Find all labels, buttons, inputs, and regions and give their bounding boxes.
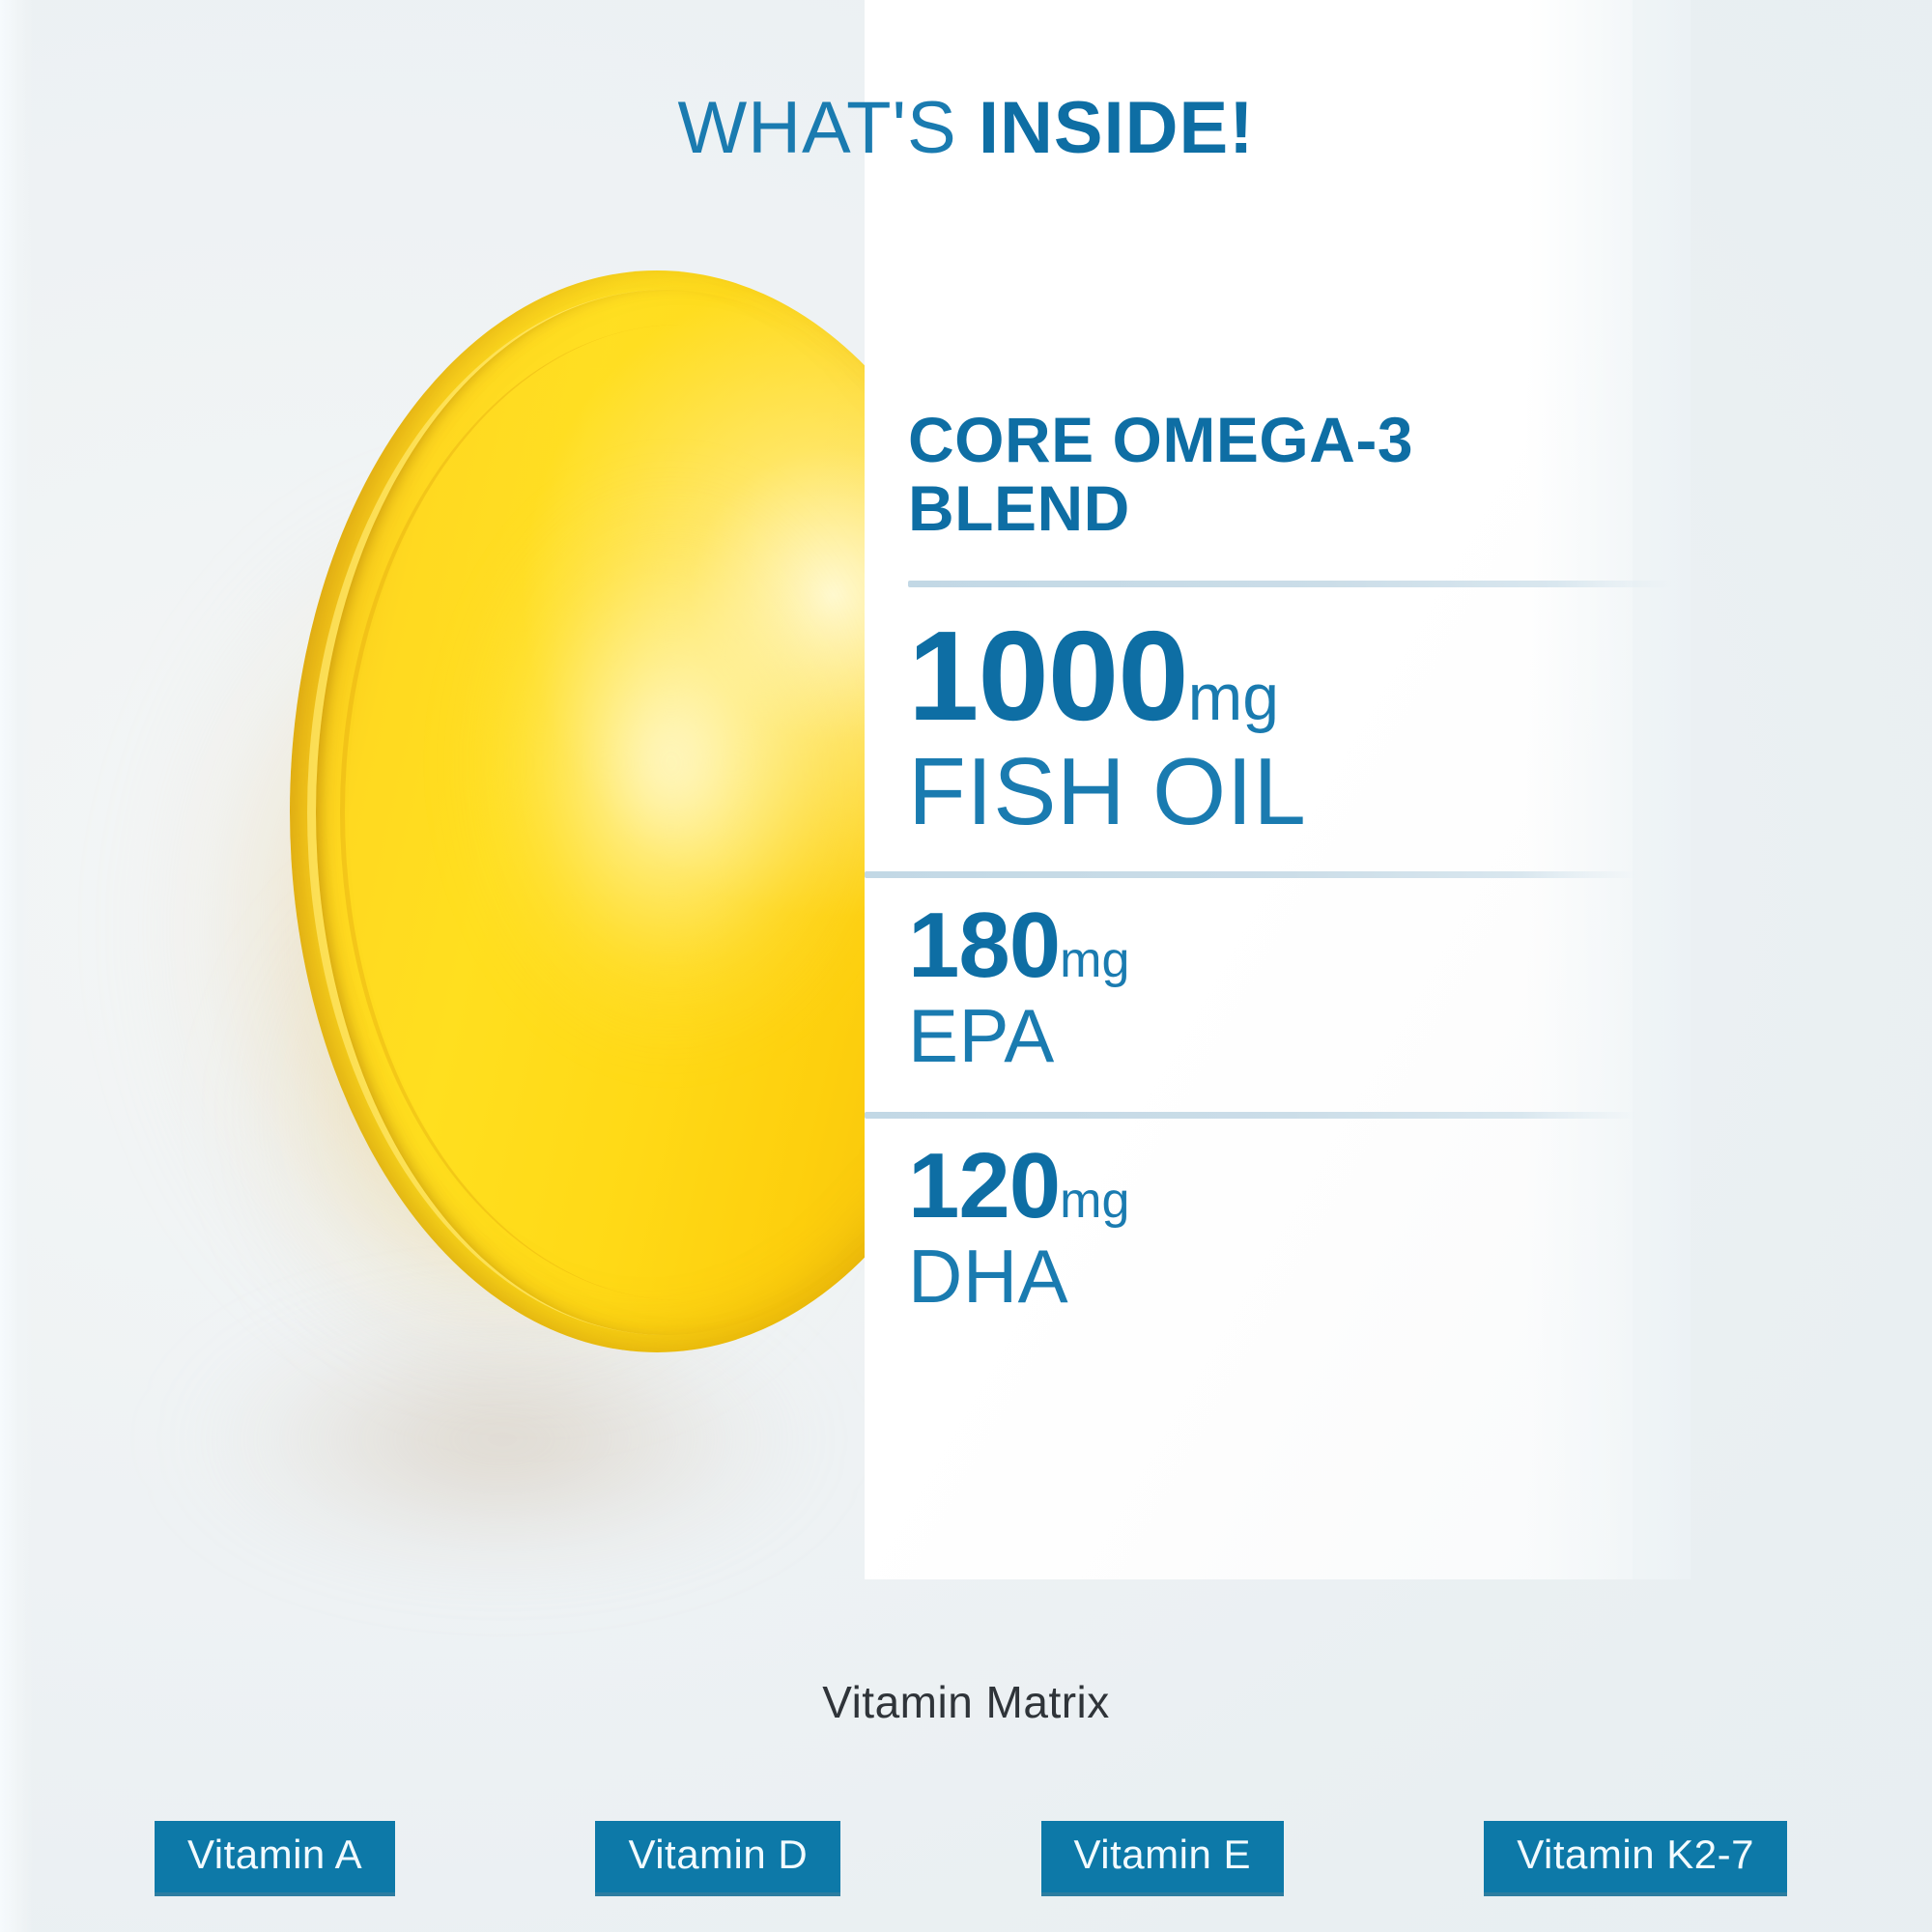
stat-epa: 180mg EPA	[908, 899, 1681, 1073]
infographic-canvas: WHAT'S INSIDE! CORE OMEGA-3 BLEND 1000mg…	[0, 0, 1932, 1932]
stat-fish-oil-unit: mg	[1188, 661, 1279, 734]
section-heading: CORE OMEGA-3 BLEND	[908, 406, 1681, 542]
stat-dha-label: DHA	[908, 1238, 1681, 1314]
section-heading-line1: CORE OMEGA-3	[908, 404, 1413, 475]
badge-vitamin-e: Vitamin E	[1041, 1821, 1284, 1892]
stat-dha-amount: 120mg	[908, 1140, 1681, 1233]
page-title: WHAT'S INSIDE!	[0, 92, 1932, 165]
stat-epa-value: 180	[908, 894, 1060, 997]
vitamin-matrix-caption: Vitamin Matrix	[0, 1676, 1932, 1728]
stat-epa-amount: 180mg	[908, 899, 1681, 992]
stat-fish-oil-label: FISH OIL	[908, 744, 1681, 838]
divider-line-3	[865, 1112, 1637, 1119]
capsule-specular-highlight	[454, 464, 889, 1063]
divider-line-2	[865, 871, 1637, 878]
divider-line-1	[908, 581, 1671, 587]
stat-fish-oil: 1000mg FISH OIL	[908, 612, 1681, 838]
stat-fish-oil-value: 1000	[908, 605, 1188, 747]
stat-epa-label: EPA	[908, 998, 1681, 1073]
section-heading-line2: BLEND	[908, 472, 1130, 544]
vitamin-badge-row: Vitamin A Vitamin D Vitamin E Vitamin K2…	[155, 1821, 1787, 1892]
stat-dha: 120mg DHA	[908, 1140, 1681, 1314]
softgel-capsule-image	[0, 145, 927, 1652]
badge-vitamin-k2-7: Vitamin K2-7	[1484, 1821, 1787, 1892]
stat-dha-value: 120	[908, 1134, 1060, 1237]
core-blend-section: CORE OMEGA-3 BLEND 1000mg FISH OIL 180mg…	[908, 406, 1681, 1314]
stat-epa-unit: mg	[1060, 932, 1129, 988]
badge-vitamin-a: Vitamin A	[155, 1821, 395, 1892]
stat-fish-oil-amount: 1000mg	[908, 612, 1681, 740]
stat-dha-unit: mg	[1060, 1173, 1129, 1229]
spacer-2	[908, 1073, 1681, 1112]
badge-vitamin-d: Vitamin D	[595, 1821, 840, 1892]
page-title-bold: INSIDE!	[979, 87, 1255, 169]
page-title-light: WHAT'S	[677, 87, 978, 169]
